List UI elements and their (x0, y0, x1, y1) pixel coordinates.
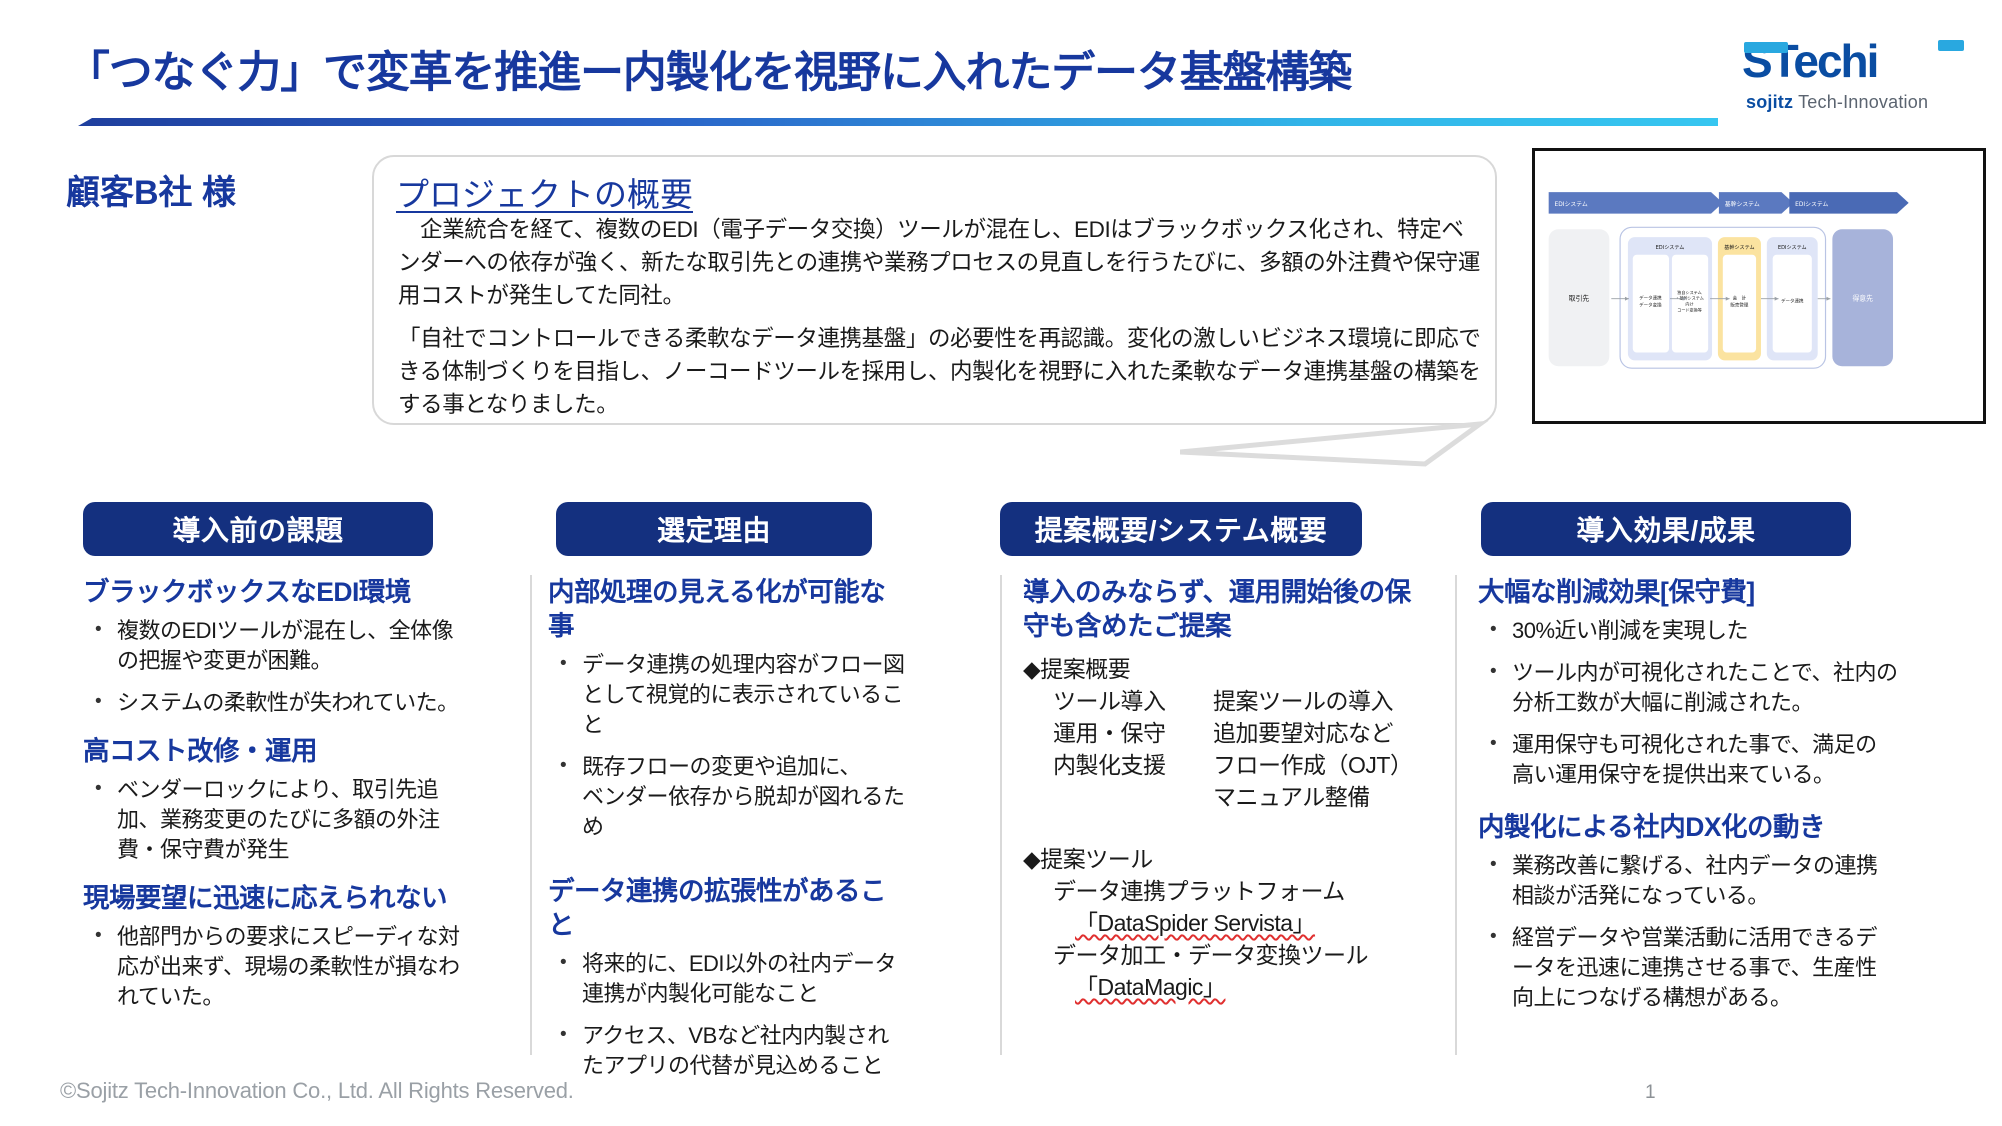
block-heading: 高コスト改修・運用 (83, 734, 466, 768)
list-item: 業務改善に繋げる、社内データの連携相談が活発になっている。 (1478, 851, 1898, 911)
bubble-tail-icon (1180, 418, 1490, 468)
table-row: マニュアル整備 (1053, 781, 1423, 813)
table-cell-key: 内製化支援 (1053, 749, 1213, 781)
proposal-tool-line: 「DataMagic」 (1075, 971, 1423, 1003)
list-item: ツール内が可視化されたことで、社内の分析工数が大幅に削減された。 (1478, 658, 1898, 718)
table-cell-key: ツール導入 (1053, 685, 1213, 717)
svg-text:EDIシステム: EDIシステム (1795, 201, 1828, 208)
page-title: 「つなぐ力」で変革を推進ー内製化を視野に入れたデータ基盤構築 (66, 38, 1351, 100)
bullet-list: 複数のEDIツールが混在し、全体像の把握や変更が困難。 システムの柔軟性が失われ… (83, 616, 466, 718)
bullet-list: 30%近い削減を実現した ツール内が可視化されたことで、社内の分析工数が大幅に削… (1478, 616, 1898, 790)
list-item: 既存フローの変更や追加に、 ベンダー依存から脱却が図れるため (548, 752, 908, 842)
logo-wordmark: STechi (1742, 36, 1972, 88)
svg-text:取引先: 取引先 (1569, 294, 1590, 303)
copyright-notice: ©Sojitz Tech-Innovation Co., Ltd. All Ri… (60, 1078, 574, 1104)
table-cell-value: マニュアル整備 (1213, 781, 1423, 813)
bullet-list: 業務改善に繋げる、社内データの連携相談が活発になっている。 経営データや営業活動… (1478, 851, 1898, 1013)
column-challenges: ブラックボックスなEDI環境 複数のEDIツールが混在し、全体像の把握や変更が困… (83, 575, 466, 1075)
logo-accent-bar-s (1744, 42, 1788, 53)
column-selection-reason: 内部処理の見える化が可能な事 データ連携の処理内容がフロー図として視覚的に表示さ… (548, 575, 908, 1075)
section-header-selection-reason: 選定理由 (556, 502, 872, 556)
list-item: 経営データや営業活動に活用できるデータを迅速に連携させる事で、生産性向上につなげ… (1478, 923, 1898, 1013)
svg-text:基幹システム: 基幹システム (1724, 244, 1754, 251)
svg-text:データ連携: データ連携 (1639, 295, 1662, 302)
block-heading: データ連携の拡張性があること (548, 874, 908, 942)
table-row: 内製化支援 フロー作成（OJT） (1053, 749, 1423, 781)
section-header-results: 導入効果/成果 (1481, 502, 1851, 556)
svg-text:基幹システム: 基幹システム (1725, 200, 1760, 208)
logo-accent-bar-i (1938, 40, 1964, 51)
table-cell-key: 運用・保守 (1053, 717, 1213, 749)
list-item: 複数のEDIツールが混在し、全体像の把握や変更が困難。 (83, 616, 466, 676)
list-item: システムの柔軟性が失われていた。 (83, 688, 466, 718)
column-results: 大幅な削減効果[保守費] 30%近い削減を実現した ツール内が可視化されたことで… (1478, 575, 1898, 1075)
block-heading: 内部処理の見える化が可能な事 (548, 575, 908, 643)
overview-heading: プロジェクトの概要 (396, 168, 693, 216)
list-item: アクセス、VBなど社内内製されたアプリの代替が見込めること (548, 1021, 908, 1081)
svg-text:データ変換: データ変換 (1639, 302, 1662, 309)
svg-text:独自システム: 独自システム (1677, 289, 1701, 295)
tool-name-dataspider: 「DataSpider Servista」 (1075, 910, 1315, 936)
logo-tagline: sojitz Tech-Innovation (1746, 92, 1928, 113)
customer-name-label: 顧客B社 様 (66, 165, 236, 214)
bullet-list: ベンダーロックにより、取引先追加、業務変更のたびに多額の外注費・保守費が発生 (83, 775, 466, 865)
column-proposal: 導入のみならず、運用開始後の保守も含めたご提案 ◆提案概要 ツール導入 提案ツー… (1023, 575, 1423, 1075)
proposal-tool-line: データ加工・データ変換ツール (1053, 939, 1423, 971)
list-item: 他部門からの要求にスピーディな対応が出来ず、現場の柔軟性が損なわれていた。 (83, 922, 466, 1012)
table-cell-value: フロー作成（OJT） (1213, 749, 1423, 781)
section-header-proposal: 提案概要/システム概要 (1000, 502, 1362, 556)
overview-paragraph-1: 企業統合を経て、複数のEDI（電子データ交換）ツールが混在し、EDIはブラックボ… (398, 213, 1483, 312)
proposal-overview-table: ツール導入 提案ツールの導入 運用・保守 追加要望対応など 内製化支援 フロー作… (1053, 685, 1423, 813)
block-heading: ブラックボックスなEDI環境 (83, 575, 466, 609)
column-divider (530, 575, 532, 1055)
block-heading: 内製化による社内DX化の動き (1478, 810, 1898, 844)
list-item: 運用保守も可視化された事で、満足の高い運用保守を提供出来ている。 (1478, 730, 1898, 790)
svg-text:得意先: 得意先 (1852, 294, 1873, 303)
svg-text:EDIシステム: EDIシステム (1555, 201, 1588, 208)
list-item: 30%近い削減を実現した (1478, 616, 1898, 646)
proposal-tool-line: 「DataSpider Servista」 (1075, 907, 1423, 939)
svg-text:向け: 向け (1685, 301, 1693, 307)
svg-text:コード変換等: コード変換等 (1677, 306, 1702, 312)
column-divider (1455, 575, 1457, 1055)
block-heading: 導入のみならず、運用開始後の保守も含めたご提案 (1023, 575, 1423, 643)
svg-text:会 計: 会 計 (1733, 295, 1747, 302)
proposal-tools-title: ◆提案ツール (1023, 843, 1423, 875)
slide-header: 「つなぐ力」で変革を推進ー内製化を視野に入れたデータ基盤構築 STechi so… (0, 0, 2002, 130)
block-heading: 現場要望に迅速に応えられない (83, 881, 466, 915)
svg-text:EDIシステム: EDIシステム (1656, 245, 1685, 251)
overview-paragraph-2: 「自社でコントロールできる柔軟なデータ連携基盤」の必要性を再認識。変化の激しいビ… (398, 322, 1483, 421)
bullet-list: データ連携の処理内容がフロー図として視覚的に表示されていること 既存フローの変更… (548, 650, 908, 842)
section-header-challenges: 導入前の課題 (83, 502, 433, 556)
list-item: 将来的に、EDI以外の社内データ連携が内製化可能なこと (548, 949, 908, 1009)
system-architecture-diagram: EDIシステム 基幹システム EDIシステム 取引先 EDIシステム データ連携… (1532, 148, 1986, 424)
table-row: 運用・保守 追加要望対応など (1053, 717, 1423, 749)
table-row: ツール導入 提案ツールの導入 (1053, 685, 1423, 717)
list-item: データ連携の処理内容がフロー図として視覚的に表示されていること (548, 650, 908, 740)
logo-tagline-brand: sojitz (1746, 92, 1793, 112)
title-underline-bar (78, 118, 1718, 126)
list-item: ベンダーロックにより、取引先追加、業務変更のたびに多額の外注費・保守費が発生 (83, 775, 466, 865)
bullet-list: 他部門からの要求にスピーディな対応が出来ず、現場の柔軟性が損なわれていた。 (83, 922, 466, 1012)
table-cell-value: 追加要望対応など (1213, 717, 1423, 749)
column-divider (1000, 575, 1002, 1055)
block-heading: 大幅な削減効果[保守費] (1478, 575, 1898, 609)
svg-text:EDIシステム: EDIシステム (1778, 245, 1807, 251)
bullet-list: 将来的に、EDI以外の社内データ連携が内製化可能なこと アクセス、VBなど社内内… (548, 949, 908, 1081)
logo-tagline-rest: Tech-Innovation (1793, 92, 1928, 112)
tool-name-datamagic: 「DataMagic」 (1075, 974, 1225, 1000)
proposal-tool-line: データ連携プラットフォーム (1053, 875, 1423, 907)
company-logo: STechi sojitz Tech-Innovation (1742, 36, 1972, 116)
svg-text:・基幹システム: ・基幹システム (1675, 295, 1704, 301)
page-number: 1 (1645, 1082, 1656, 1104)
diagram-svg: EDIシステム 基幹システム EDIシステム 取引先 EDIシステム データ連携… (1535, 151, 1983, 421)
svg-text:データ連携: データ連携 (1781, 298, 1804, 305)
svg-text:販売管理: 販売管理 (1730, 302, 1748, 309)
proposal-group-title: ◆提案概要 (1023, 653, 1423, 685)
table-cell-value: 提案ツールの導入 (1213, 685, 1423, 717)
table-cell-key (1053, 781, 1213, 813)
